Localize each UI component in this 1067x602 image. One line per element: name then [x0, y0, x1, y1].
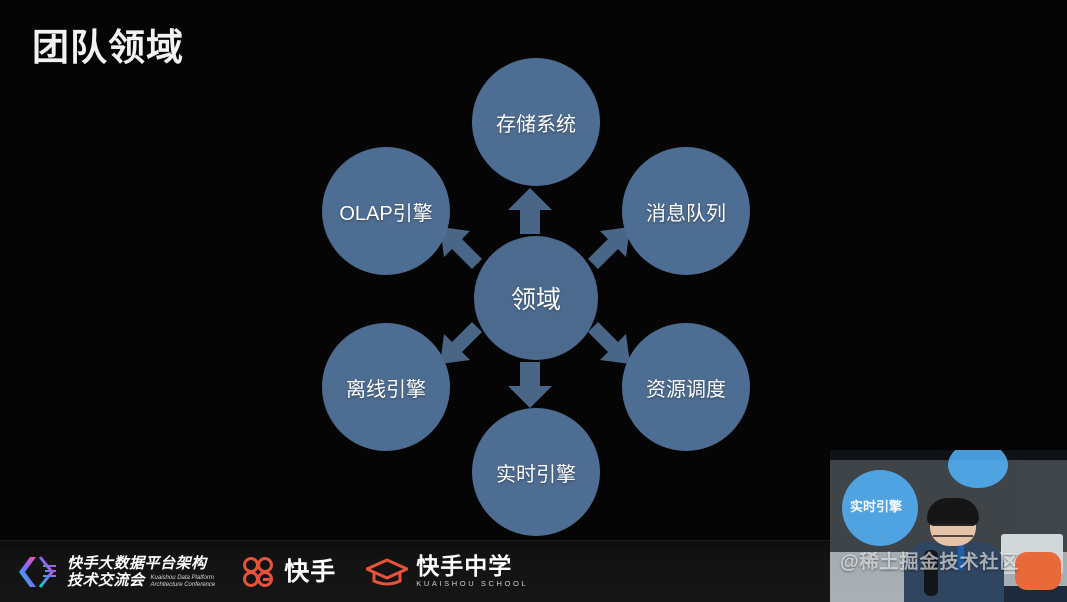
node-label: 离线引擎 — [346, 373, 426, 402]
conference-logo: 快手大数据平台架构 技术交流会 Kuaishou Data Platform A… — [16, 550, 215, 594]
node-label: OLAP引擎 — [339, 197, 432, 226]
diagram-node-resource-scheduling[interactable]: 资源调度 — [622, 323, 750, 451]
conference-name-line2: 技术交流会 — [67, 572, 145, 589]
diagram-node-realtime-engine[interactable]: 实时引擎 — [472, 408, 600, 536]
presentation-slide: 团队领域 存储系统 OLAP引擎 消息队列 — [0, 0, 1067, 602]
arrow-lower-left-icon — [438, 318, 486, 366]
kuaishou-school-logo: 快手中学 KUAISHOU SCHOOL — [366, 550, 528, 594]
page-title: 团队领域 — [32, 26, 184, 70]
conference-name-line1: 快手大数据平台架构 — [67, 555, 215, 572]
video-slide-label: 实时引擎 — [850, 496, 902, 515]
conference-logo-text: 快手大数据平台架构 技术交流会 Kuaishou Data Platform A… — [67, 555, 215, 589]
presenter-video-overlay[interactable]: 实时引擎 @稀土掘金技术社区 — [830, 450, 1067, 602]
node-label: 消息队列 — [646, 197, 726, 226]
conference-name-row2: 技术交流会 Kuaishou Data Platform Architectur… — [67, 572, 215, 589]
video-presenter-hair — [927, 498, 979, 526]
node-label: 实时引擎 — [496, 458, 576, 487]
video-slide-circle-secondary — [948, 450, 1008, 488]
center-node-label: 领域 — [511, 280, 561, 316]
school-name-en: KUAISHOU SCHOOL — [416, 579, 528, 589]
hub-and-spoke-diagram: 存储系统 OLAP引擎 消息队列 离线引擎 资源调度 实时引擎 领域 — [300, 40, 780, 540]
kuaishou-logo: 快手 — [243, 550, 336, 594]
arrow-up-icon — [508, 188, 552, 234]
diagram-node-olap[interactable]: OLAP引擎 — [322, 147, 450, 275]
diagram-node-storage[interactable]: 存储系统 — [472, 58, 600, 186]
video-presenter-glasses — [933, 524, 973, 537]
school-wordmark: 快手中学 KUAISHOU SCHOOL — [416, 554, 528, 589]
diagram-node-offline-engine[interactable]: 离线引擎 — [322, 323, 450, 451]
video-watermark: @稀土掘金技术社区 — [840, 547, 1057, 574]
node-label: 资源调度 — [646, 373, 726, 402]
kuaishou-wordmark: 快手 — [284, 558, 336, 586]
diagram-node-center[interactable]: 领域 — [474, 236, 598, 360]
conference-name-en-line1: Kuaishou Data Platform — [151, 575, 216, 582]
conference-name-en-line2: Architecture Conference — [151, 582, 216, 589]
kuaishou-mark-icon — [243, 557, 277, 587]
arrow-down-icon — [508, 362, 552, 408]
conference-name-en: Kuaishou Data Platform Architecture Conf… — [145, 575, 216, 589]
school-name-cn: 快手中学 — [416, 554, 528, 579]
diagram-node-message-queue[interactable]: 消息队列 — [622, 147, 750, 275]
graduation-cap-icon — [366, 557, 408, 587]
node-label: 存储系统 — [496, 108, 576, 137]
conference-mark-icon — [16, 553, 58, 591]
